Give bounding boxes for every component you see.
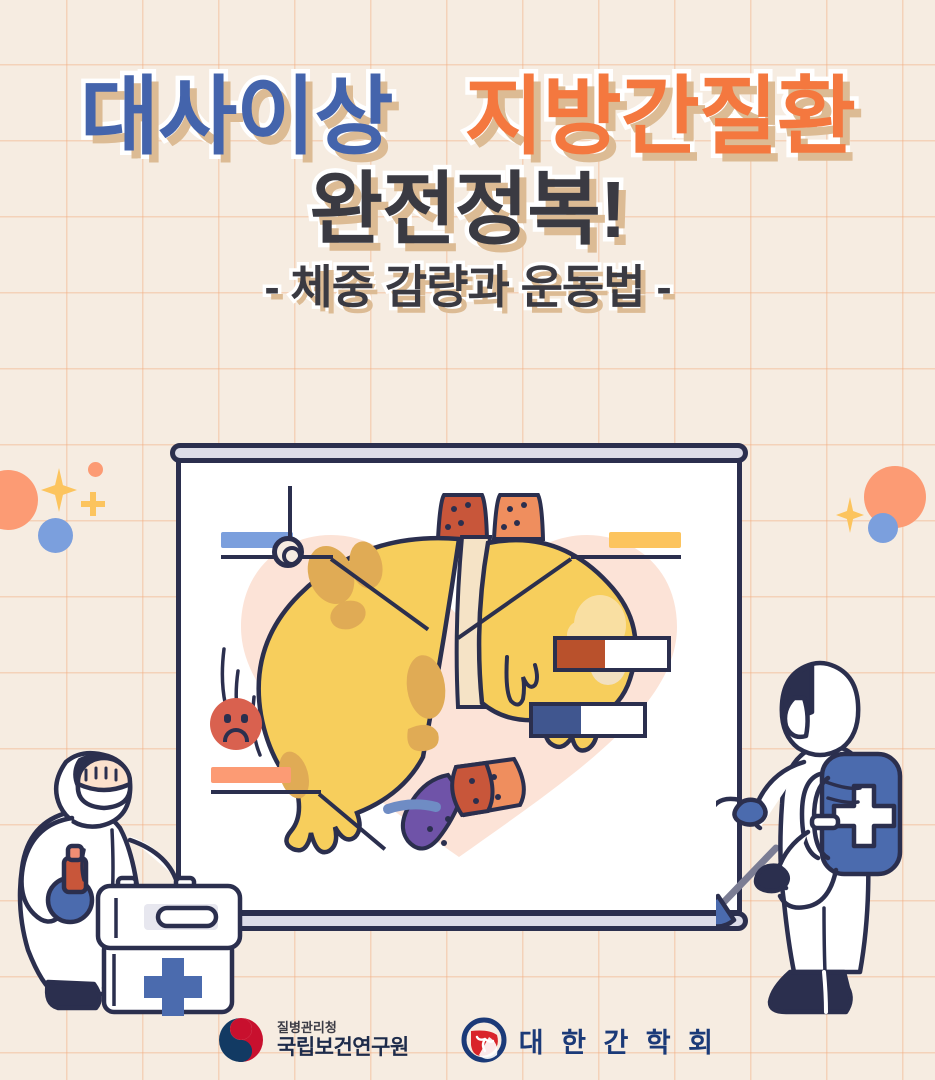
decor-circle-blue-right [868, 513, 898, 543]
title-subtitle: - 체중 감량과 운동법 - [264, 264, 670, 310]
hepatic-vessels [438, 495, 543, 539]
kdca-logo: 질병관리청 국립보건연구원 [217, 1016, 409, 1064]
poster-root: 대사이상 지방간질환 완전정복! - 체중 감량과 운동법 - [0, 0, 935, 1080]
title-part-metabolic: 대사이상 [80, 74, 392, 160]
decor-dot-salmon-left [88, 462, 103, 477]
liver-illustration [176, 457, 742, 915]
title-line-1: 대사이상 지방간질환 [0, 74, 935, 160]
footer-logos: 질병관리청 국립보건연구원 대 한 간 학 회 [0, 1016, 935, 1064]
title-line-2: 완전정복! [309, 170, 625, 250]
worker-right [716, 652, 930, 1024]
board-pull-ring[interactable] [272, 536, 304, 568]
callout-cap-blue [533, 706, 581, 734]
taegeuk-icon [217, 1016, 265, 1064]
kdca-institute-name: 국립보건연구원 [277, 1036, 409, 1060]
liver-society-icon [461, 1017, 507, 1063]
title-block: 대사이상 지방간질환 완전정복! - 체중 감량과 운동법 - [0, 74, 935, 310]
callout-box-red[interactable] [553, 636, 671, 672]
board-pull-cord[interactable] [288, 486, 292, 542]
callout-bar-yellow[interactable] [609, 532, 681, 548]
callout-box-blue[interactable] [529, 702, 647, 738]
callout-leader-yellow [571, 555, 681, 559]
decor-circle-blue-left [38, 518, 73, 553]
board-top-rail [170, 443, 748, 463]
kdca-agency-name: 질병관리청 [277, 1021, 409, 1036]
kasl-name: 대 한 간 학 회 [519, 1021, 718, 1060]
title-part-fattyliver: 지방간질환 [464, 74, 855, 160]
callout-cap-red [557, 640, 605, 668]
decor-plus-left [81, 492, 105, 516]
kasl-logo: 대 한 간 학 회 [461, 1017, 718, 1063]
board-canvas [176, 457, 742, 915]
first-aid-kit[interactable] [84, 862, 264, 1022]
